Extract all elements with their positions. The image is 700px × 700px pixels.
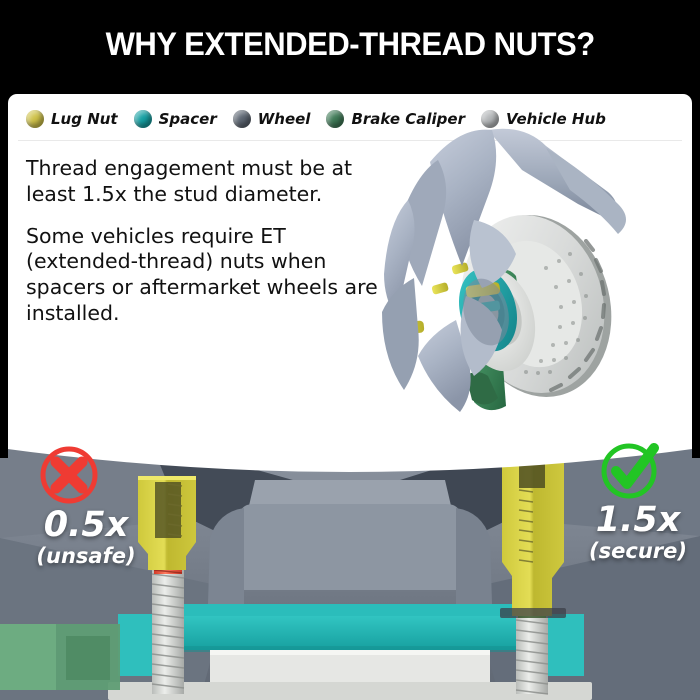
brake-caliper-section [0,624,120,690]
legend-dot-icon [326,110,344,128]
legend-item-wheel: Wheel [233,110,311,128]
check-badge-icon [600,438,662,500]
ratio-note-secure: (secure) [578,538,698,564]
infographic-root: WHY EXTENDED-THREAD NUTS? Lug Nut Spacer… [0,0,700,700]
legend-label: Lug Nut [51,110,118,128]
legend-dot-icon [134,110,152,128]
legend-label: Spacer [159,110,217,128]
page-title: WHY EXTENDED-THREAD NUTS? [105,26,594,63]
body-paragraph-2: Some vehicles require ET (extended-threa… [26,224,401,327]
legend-item-lug-nut: Lug Nut [26,110,118,128]
body-paragraph-1: Thread engagement must be at least 1.5x … [26,156,401,208]
wheel-assembly-illustration [370,124,690,414]
ratio-label-secure: 1.5x (secure) [578,503,698,564]
legend-dot-icon [233,110,251,128]
ratio-note-unsafe: (unsafe) [26,543,146,569]
title-bar: WHY EXTENDED-THREAD NUTS? [0,0,700,88]
ratio-value-unsafe: 0.5x [26,508,146,543]
legend-label: Wheel [258,110,311,128]
info-card: Lug Nut Spacer Wheel Brake Caliper Vehic… [8,94,692,466]
legend-dot-icon [26,110,44,128]
ratio-value-secure: 1.5x [578,503,698,538]
legend-item-spacer: Spacer [134,110,217,128]
ratio-label-unsafe: 0.5x (unsafe) [26,508,146,569]
cross-badge-icon [38,444,100,506]
body-copy: Thread engagement must be at least 1.5x … [26,156,401,327]
